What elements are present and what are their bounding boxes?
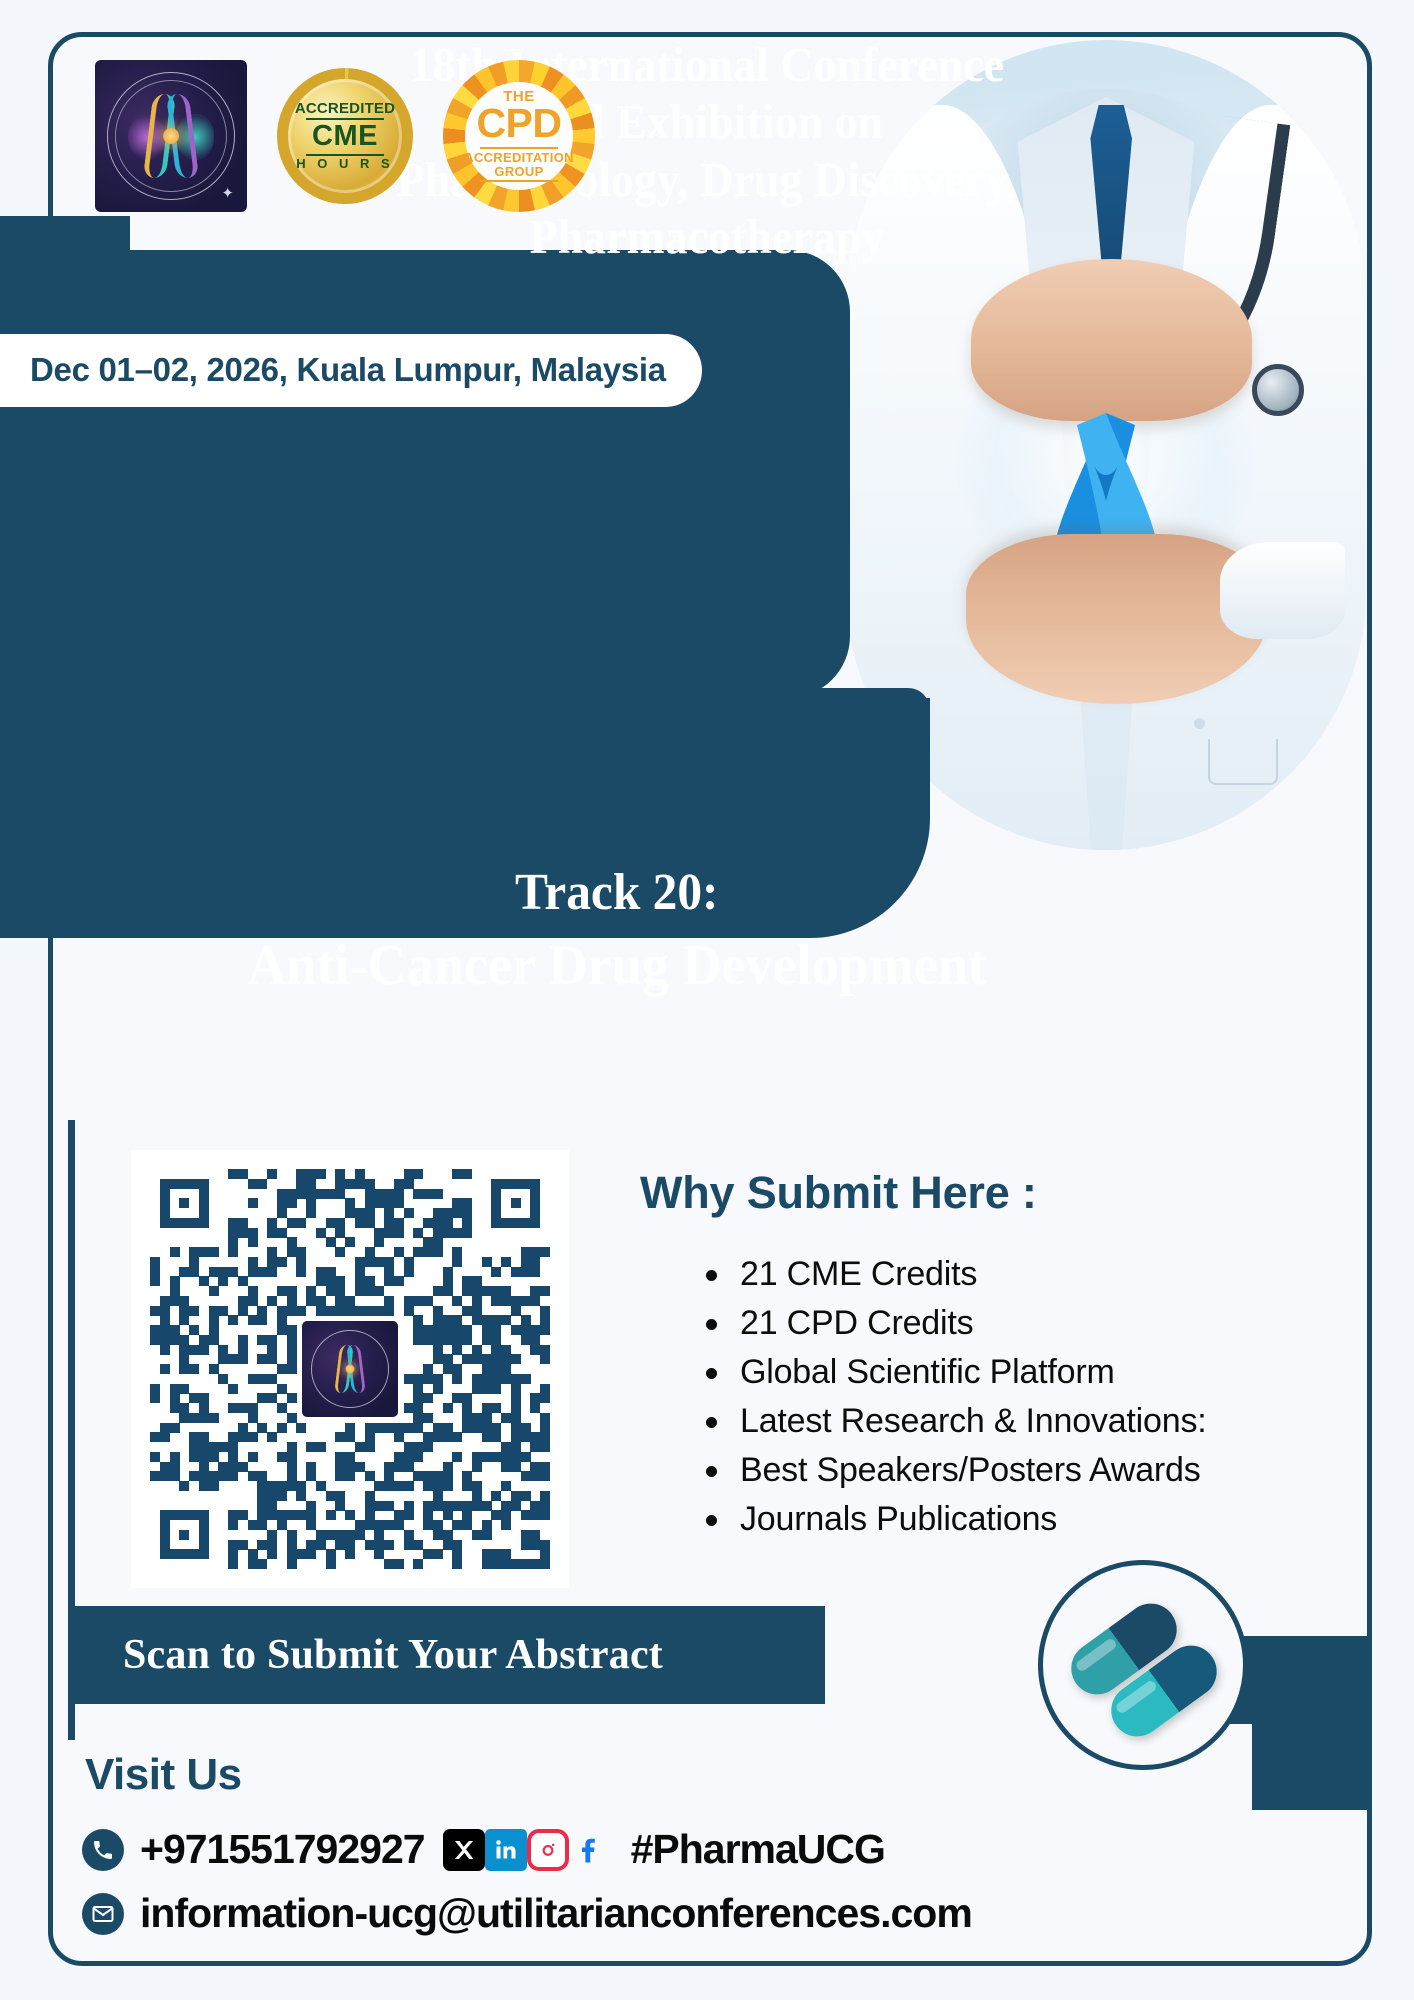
conference-logo-icon: ✦: [95, 60, 247, 212]
x-icon[interactable]: [443, 1829, 485, 1871]
date-location-badge: Dec 01–02, 2026, Kuala Lumpur, Malaysia: [0, 334, 702, 407]
capsules-illustration: [1038, 1560, 1248, 1770]
accreditation-badges-row: ✦ ACCREDITED CME H O U R S THE CPD ACCRE…: [95, 60, 595, 212]
list-item: Best Speakers/Posters Awards: [700, 1446, 1207, 1495]
phone-contact-row[interactable]: +971551792927: [82, 1826, 885, 1873]
capsule-gloss: [1114, 1679, 1158, 1715]
cpd-line-accreditation: ACCREDITATION: [464, 151, 574, 164]
sparkle-icon: ✦: [221, 186, 234, 201]
list-item: Journals Publications: [700, 1495, 1207, 1544]
visit-us-heading: Visit Us: [85, 1750, 242, 1800]
seal-text: ACCREDITED CME H O U R S: [295, 101, 395, 171]
cme-accredited-seal: ACCREDITED CME H O U R S: [277, 68, 413, 204]
hashtag-text: #PharmaUCG: [631, 1826, 885, 1873]
track-title: Anti-Cancer Drug Development: [35, 932, 1378, 1000]
qr-logo-ring: [311, 1330, 389, 1408]
cpd-rule-top: [480, 147, 558, 149]
list-item: Latest Research & Innovations:: [700, 1397, 1207, 1446]
coat-cuff: [1220, 542, 1345, 639]
scan-instruction-text: Scan to Submit Your Abstract: [75, 1631, 663, 1679]
atom-icon: [163, 128, 179, 144]
coat-button: [1194, 718, 1205, 729]
title-panel: [0, 250, 850, 698]
list-item: Global Scientific Platform: [700, 1348, 1207, 1397]
conference-poster: ✦ ACCREDITED CME H O U R S THE CPD ACCRE…: [0, 0, 1414, 2000]
cme-line-cme: CME: [295, 121, 395, 152]
qr-center-logo-icon: [302, 1321, 398, 1417]
email-contact-row[interactable]: information-ucg@utilitarianconferences.c…: [82, 1890, 972, 1937]
coat-pocket: [1208, 739, 1278, 785]
capsule-gloss: [1074, 1637, 1118, 1673]
social-icons-group[interactable]: [443, 1829, 611, 1871]
cpd-inner-circle: THE CPD ACCREDITATION GROUP: [465, 82, 573, 190]
envelope-icon: [82, 1893, 124, 1935]
left-accent-bar: [68, 1120, 75, 1740]
phone-number: +971551792927: [140, 1826, 425, 1873]
qr-atom-icon: [346, 1365, 355, 1374]
track-heading: Track 20: Anti-Cancer Drug Development: [35, 864, 1378, 1001]
qr-code[interactable]: [150, 1169, 550, 1569]
cpd-accreditation-badge: THE CPD ACCREDITATION GROUP: [443, 60, 595, 212]
scan-instruction-banner: Scan to Submit Your Abstract: [75, 1606, 825, 1704]
list-item: 21 CPD Credits: [700, 1299, 1207, 1348]
stethoscope-chestpiece: [1252, 364, 1304, 416]
cme-line-hours: H O U R S: [295, 157, 395, 171]
email-address: information-ucg@utilitarianconferences.c…: [140, 1890, 972, 1937]
qr-code-panel[interactable]: [131, 1150, 569, 1588]
cpd-line-group: GROUP: [494, 165, 543, 178]
why-submit-list: 21 CME Credits 21 CPD Credits Global Sci…: [700, 1250, 1207, 1544]
logo-outer-ring: [107, 72, 235, 200]
title-line-4: Pharmacotherapy: [72, 208, 1342, 265]
list-item: 21 CME Credits: [700, 1250, 1207, 1299]
track-number: Track 20:: [35, 864, 1378, 922]
phone-icon: [82, 1829, 124, 1871]
why-submit-heading: Why Submit Here :: [640, 1167, 1037, 1219]
hand-upper: [971, 259, 1252, 421]
cpd-line-cpd: CPD: [476, 103, 561, 144]
pills-accent-tab-lower: [1252, 1720, 1370, 1810]
facebook-icon[interactable]: [569, 1829, 611, 1871]
cpd-rule-bottom: [480, 180, 558, 182]
cme-line-accredited: ACCREDITED: [295, 101, 395, 117]
instagram-icon[interactable]: [527, 1829, 569, 1871]
linkedin-icon[interactable]: [485, 1829, 527, 1871]
